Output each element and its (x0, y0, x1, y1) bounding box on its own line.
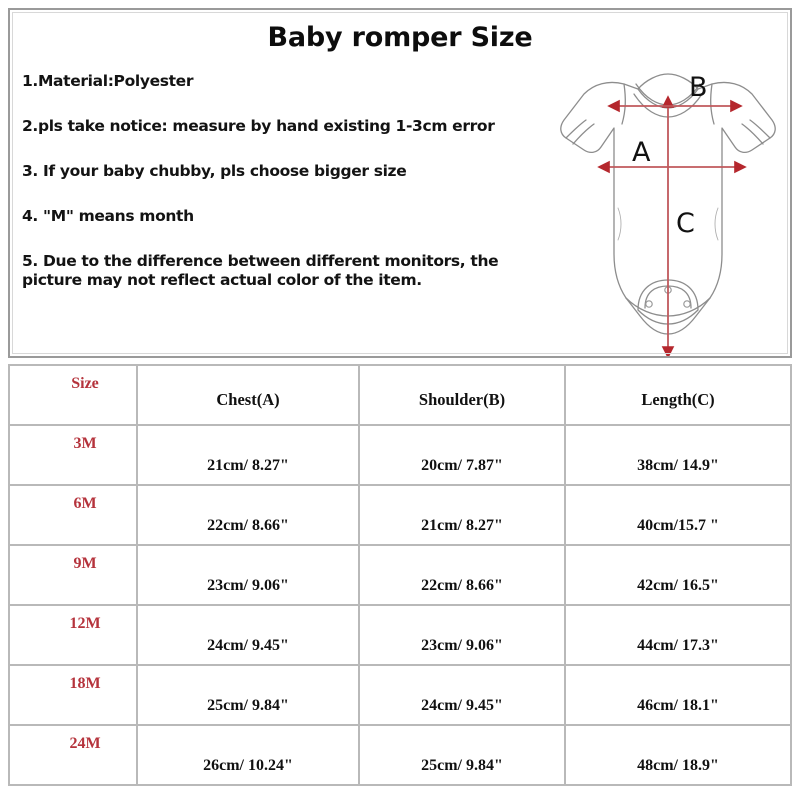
note-item: 4. "M" means month (22, 207, 542, 226)
chest-value: 22cm/ 8.66" (207, 517, 289, 535)
label-c: C (676, 208, 695, 239)
shoulder-value: 23cm/ 9.06" (421, 637, 503, 655)
page-title: Baby romper Size (10, 22, 790, 53)
length-value: 40cm/15.7 " (637, 517, 719, 535)
size-value: 9M (73, 555, 96, 573)
cell-shoulder: 25cm/ 9.84" (358, 724, 564, 786)
size-value: 18M (69, 675, 100, 693)
header-cell-length: Length(C) (564, 364, 792, 424)
size-table: Size Chest(A) Shoulder(B) Length(C) 3M 2… (8, 364, 792, 786)
label-b: B (689, 72, 708, 103)
column-header-shoulder: Shoulder(B) (419, 390, 505, 410)
cell-length: 42cm/ 16.5" (564, 544, 792, 604)
cell-chest: 25cm/ 9.84" (136, 664, 358, 724)
cell-shoulder: 21cm/ 8.27" (358, 484, 564, 544)
table-row: 12M 24cm/ 9.45" 23cm/ 9.06" 44cm/ 17.3" (8, 604, 792, 664)
cell-size: 12M (8, 604, 136, 664)
romper-diagram: B A C (546, 58, 790, 356)
cell-chest: 22cm/ 8.66" (136, 484, 358, 544)
cell-chest: 21cm/ 8.27" (136, 424, 358, 484)
cell-length: 38cm/ 14.9" (564, 424, 792, 484)
label-a: A (632, 137, 651, 168)
cell-length: 44cm/ 17.3" (564, 604, 792, 664)
length-value: 38cm/ 14.9" (637, 457, 719, 475)
chest-value: 26cm/ 10.24" (203, 757, 293, 775)
size-value: 12M (69, 615, 100, 633)
table-row: 6M 22cm/ 8.66" 21cm/ 8.27" 40cm/15.7 " (8, 484, 792, 544)
size-table-container: Size Chest(A) Shoulder(B) Length(C) 3M 2… (8, 364, 792, 786)
notes-list: 1.Material:Polyester 2.pls take notice: … (22, 72, 542, 289)
chest-value: 24cm/ 9.45" (207, 637, 289, 655)
length-value: 48cm/ 18.9" (637, 757, 719, 775)
cell-chest: 23cm/ 9.06" (136, 544, 358, 604)
note-item: 3. If your baby chubby, pls choose bigge… (22, 162, 542, 181)
cell-shoulder: 24cm/ 9.45" (358, 664, 564, 724)
length-value: 44cm/ 17.3" (637, 637, 719, 655)
size-value: 3M (73, 435, 96, 453)
table-header-row: Size Chest(A) Shoulder(B) Length(C) (8, 364, 792, 424)
cell-chest: 24cm/ 9.45" (136, 604, 358, 664)
shoulder-value: 20cm/ 7.87" (421, 457, 503, 475)
cell-length: 46cm/ 18.1" (564, 664, 792, 724)
chest-value: 21cm/ 8.27" (207, 457, 289, 475)
length-value: 42cm/ 16.5" (637, 577, 719, 595)
table-row: 24M 26cm/ 10.24" 25cm/ 9.84" 48cm/ 18.9" (8, 724, 792, 786)
header-cell-size: Size (8, 364, 136, 424)
cell-length: 48cm/ 18.9" (564, 724, 792, 786)
size-chart-page: Baby romper Size 1.Material:Polyester 2.… (0, 0, 800, 800)
note-item: 5. Due to the difference between differe… (22, 252, 542, 290)
header-cell-chest: Chest(A) (136, 364, 358, 424)
size-value: 6M (73, 495, 96, 513)
note-item: 2.pls take notice: measure by hand exist… (22, 117, 542, 136)
shoulder-value: 21cm/ 8.27" (421, 517, 503, 535)
chest-value: 23cm/ 9.06" (207, 577, 289, 595)
cell-size: 6M (8, 484, 136, 544)
cell-size: 3M (8, 424, 136, 484)
shoulder-value: 22cm/ 8.66" (421, 577, 503, 595)
chest-value: 25cm/ 9.84" (207, 697, 289, 715)
cell-size: 24M (8, 724, 136, 786)
cell-shoulder: 23cm/ 9.06" (358, 604, 564, 664)
info-panel: Baby romper Size 1.Material:Polyester 2.… (8, 8, 792, 358)
size-value: 24M (69, 735, 100, 753)
note-item: 1.Material:Polyester (22, 72, 542, 91)
column-header-chest: Chest(A) (216, 390, 279, 410)
cell-size: 9M (8, 544, 136, 604)
header-cell-shoulder: Shoulder(B) (358, 364, 564, 424)
table-row: 18M 25cm/ 9.84" 24cm/ 9.45" 46cm/ 18.1" (8, 664, 792, 724)
column-header-length: Length(C) (641, 390, 714, 410)
table-row: 9M 23cm/ 9.06" 22cm/ 8.66" 42cm/ 16.5" (8, 544, 792, 604)
column-header-size: Size (71, 375, 99, 393)
cell-shoulder: 22cm/ 8.66" (358, 544, 564, 604)
table-row: 3M 21cm/ 8.27" 20cm/ 7.87" 38cm/ 14.9" (8, 424, 792, 484)
cell-shoulder: 20cm/ 7.87" (358, 424, 564, 484)
length-value: 46cm/ 18.1" (637, 697, 719, 715)
cell-size: 18M (8, 664, 136, 724)
cell-chest: 26cm/ 10.24" (136, 724, 358, 786)
shoulder-value: 25cm/ 9.84" (421, 757, 503, 775)
shoulder-value: 24cm/ 9.45" (421, 697, 503, 715)
cell-length: 40cm/15.7 " (564, 484, 792, 544)
